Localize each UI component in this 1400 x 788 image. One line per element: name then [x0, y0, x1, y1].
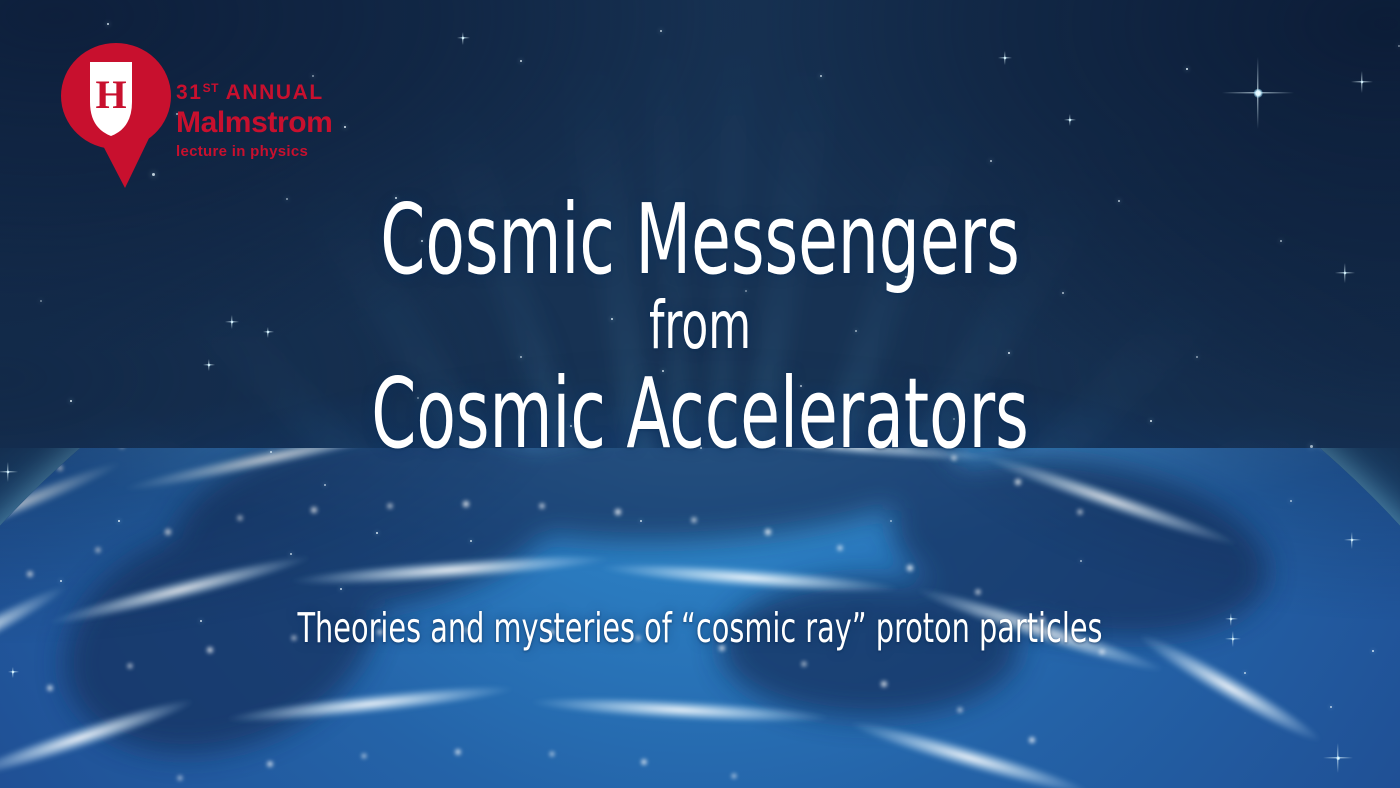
star-dot: [470, 540, 472, 542]
speech-bubble-shape: H: [55, 38, 185, 193]
star-dot: [344, 126, 346, 128]
sparkle-core: [1336, 756, 1340, 760]
sparkle-core: [1254, 89, 1263, 98]
star-dot: [640, 520, 642, 522]
star-dot: [340, 588, 342, 590]
slide-title-group: Cosmic Messengers from Cosmic Accelerato…: [0, 192, 1400, 464]
star-dot: [660, 30, 662, 32]
star-dot: [890, 520, 892, 522]
star-dot: [60, 580, 62, 582]
sparkle-core: [1361, 81, 1364, 84]
title-line-3: Cosmic Accelerators: [182, 365, 1218, 464]
logo-series-subtitle: lecture in physics: [176, 144, 332, 159]
star-dot: [1244, 672, 1246, 674]
sparkle-star: [1222, 57, 1294, 129]
star-dot: [107, 23, 109, 25]
sparkle-star: [0, 462, 18, 482]
title-line-2: from: [182, 287, 1218, 365]
sparkle-core: [7, 471, 10, 474]
slide-subtitle: Theories and mysteries of “cosmic ray” p…: [154, 608, 1246, 649]
star-dot: [1330, 706, 1332, 708]
logo-annual-line: 31ST ANNUAL: [176, 82, 332, 103]
logo-text-block: 31ST ANNUAL Malmstrom lecture in physics: [176, 82, 332, 159]
sparkle-star: [1323, 743, 1353, 773]
slide-canvas: H 31ST ANNUAL Malmstrom lecture in physi…: [0, 0, 1400, 788]
logo-edition-ordinal: ST: [203, 81, 219, 95]
star-dot: [312, 75, 314, 77]
sparkle-star: [8, 667, 19, 678]
star-dot: [376, 532, 378, 534]
star-dot: [1186, 68, 1188, 70]
title-line-1: Cosmic Messengers: [182, 192, 1218, 287]
sparkle-core: [1004, 57, 1007, 60]
logo-edition-number: 31: [176, 81, 203, 104]
star-dot: [118, 520, 120, 522]
sparkle-core: [1351, 539, 1354, 542]
sparkle-core: [1069, 119, 1072, 122]
sparkle-core: [462, 37, 465, 40]
star-dot: [324, 484, 326, 486]
star-dot: [820, 75, 822, 77]
star-dot: [1080, 560, 1082, 562]
sparkle-star: [998, 51, 1012, 65]
logo-series-name: Malmstrom: [176, 108, 332, 138]
star-dot: [520, 60, 522, 62]
star-dot: [1290, 500, 1292, 502]
sparkle-star: [1344, 532, 1361, 549]
sparkle-star: [1351, 71, 1373, 93]
sparkle-star: [1064, 114, 1076, 126]
shield-letter-h: H: [95, 72, 126, 117]
star-dot: [290, 553, 292, 555]
sparkle-core: [12, 671, 15, 674]
star-dot: [990, 160, 992, 162]
sparkle-star: [457, 32, 470, 45]
star-dot: [1372, 650, 1374, 652]
logo-annual-word: ANNUAL: [226, 81, 324, 104]
